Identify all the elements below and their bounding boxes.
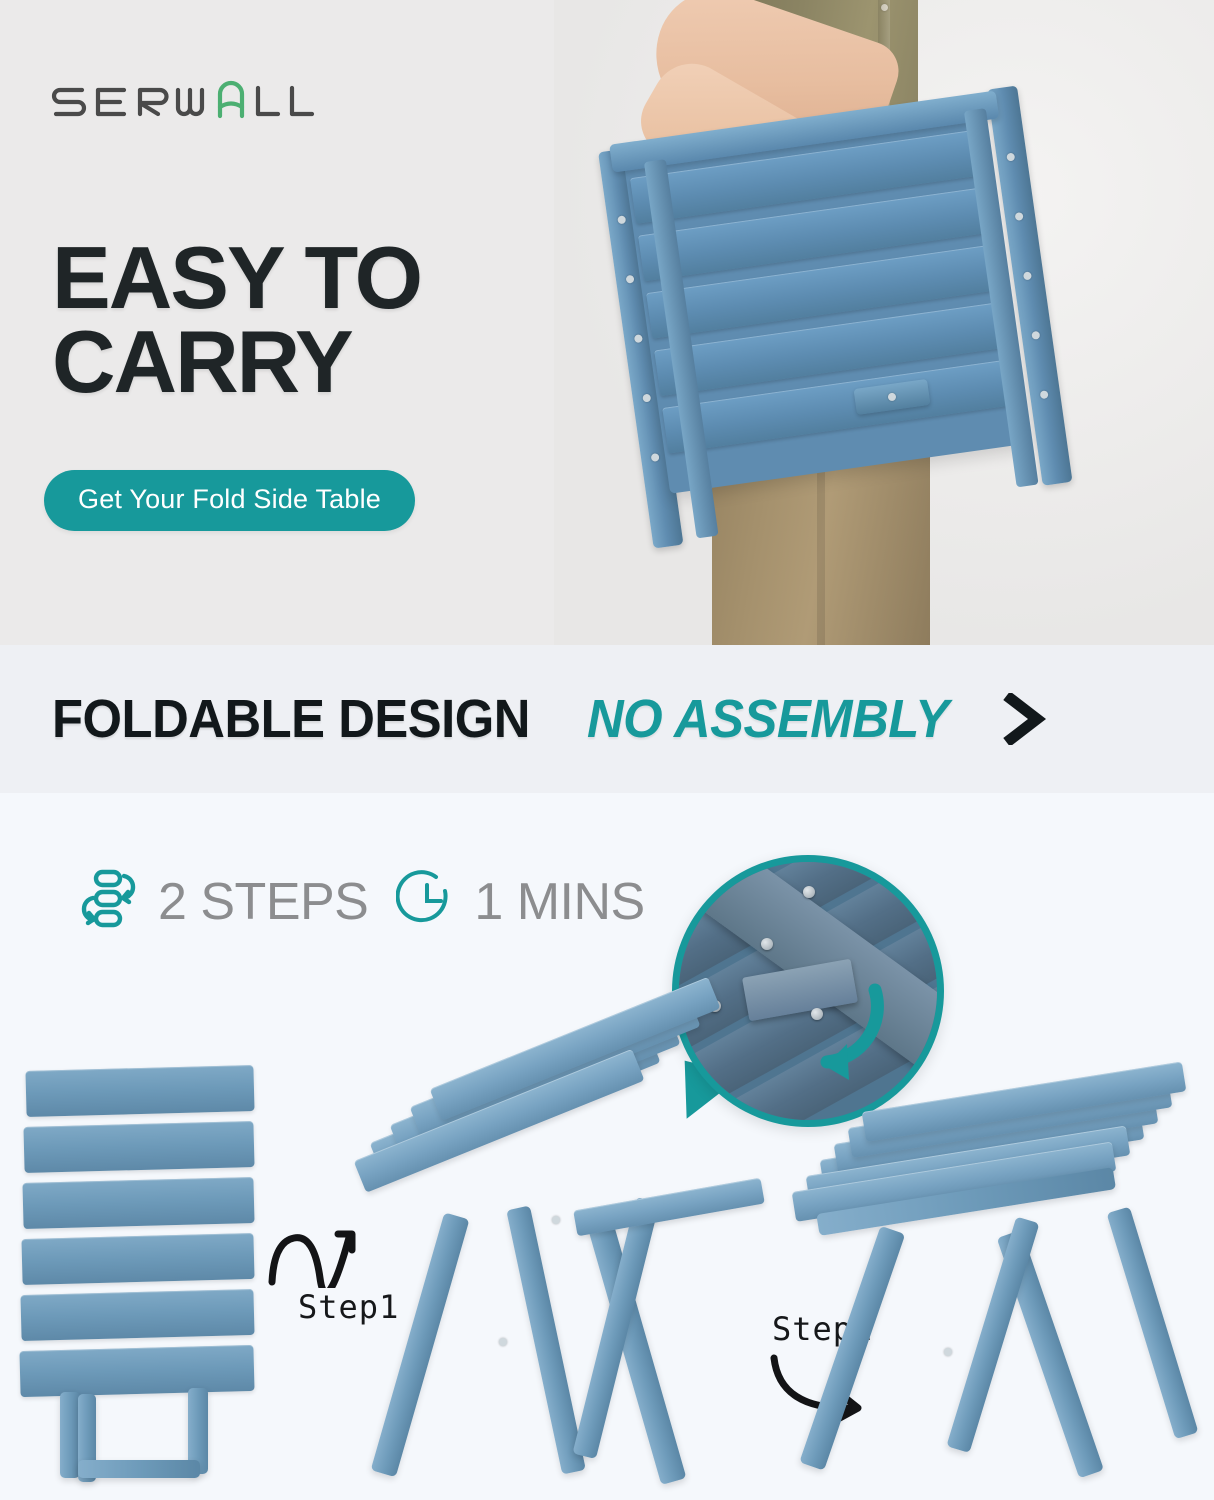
serwall-logo-icon (44, 74, 334, 122)
leg (506, 1206, 586, 1475)
folded-leg (60, 1392, 80, 1478)
brand-logo[interactable] (44, 76, 334, 122)
page-title: EASY TO CARRY (52, 236, 421, 405)
meta-label-time: 1 MINS (474, 872, 644, 932)
meta-item-steps: 2 STEPS (76, 866, 368, 937)
foldable-design-banner: FOLDABLE DESIGN NO ASSEMBLY (0, 645, 1214, 793)
steps-flow-icon (76, 866, 142, 937)
meta-label-steps: 2 STEPS (158, 872, 368, 932)
leg (946, 1216, 1039, 1453)
stage-unfolding-table (386, 1088, 766, 1488)
banner-title: FOLDABLE DESIGN (52, 688, 530, 750)
slat (20, 1289, 254, 1341)
slat (25, 1065, 254, 1117)
cta-button[interactable]: Get Your Fold Side Table (44, 470, 415, 531)
leg (371, 1212, 470, 1477)
leg (799, 1226, 905, 1471)
rivet (944, 1348, 952, 1356)
chevron-right-icon[interactable] (1003, 693, 1049, 745)
rivet (499, 1338, 507, 1346)
clock-icon (396, 868, 458, 935)
leg (1107, 1206, 1199, 1439)
folded-leg-rail (78, 1460, 200, 1478)
steps-meta-row: 2 STEPS 1 MINS (76, 866, 645, 937)
meta-item-time: 1 MINS (396, 868, 644, 935)
product-infographic-page: EASY TO CARRY Get Your Fold Side Table (0, 0, 1214, 1500)
stage-assembled-table (806, 1102, 1206, 1492)
shirt-button (881, 4, 888, 11)
stage-folded-table (20, 1062, 270, 1462)
slat (19, 1345, 254, 1397)
support-bar (573, 1178, 765, 1237)
slat (21, 1233, 254, 1285)
folded-table-carried (576, 60, 1114, 640)
hero-photo (600, 0, 1214, 645)
hero-section: EASY TO CARRY Get Your Fold Side Table (0, 0, 1214, 645)
step1-arrow-icon (258, 1196, 388, 1288)
banner-accent: NO ASSEMBLY (587, 688, 948, 750)
step1-label: Step1 (298, 1288, 399, 1326)
rivet (552, 1216, 560, 1224)
headline-line-2: CARRY (52, 320, 421, 404)
slat (23, 1121, 254, 1173)
rivet (887, 392, 896, 401)
slat (22, 1177, 254, 1229)
